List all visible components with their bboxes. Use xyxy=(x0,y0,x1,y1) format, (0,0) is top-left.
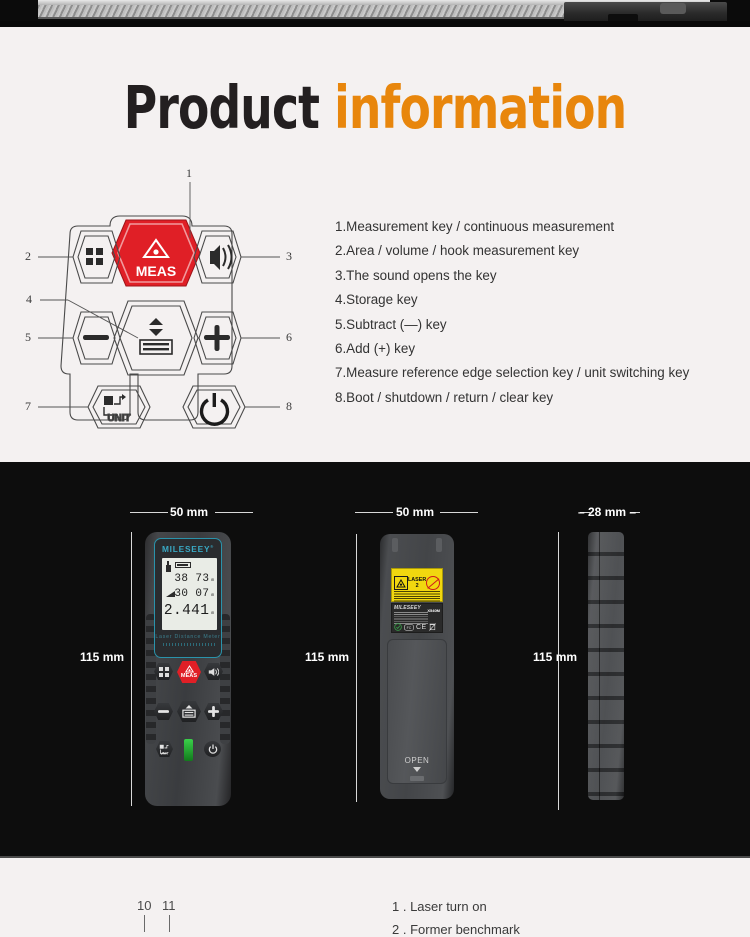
keypad-plus-key xyxy=(194,312,241,364)
reference-point-icon xyxy=(165,561,172,572)
minus-icon xyxy=(158,710,169,713)
device-unit-key[interactable]: UNIT xyxy=(156,741,173,757)
lcd-row-1: 38 73m xyxy=(174,573,214,585)
back-height-line xyxy=(356,534,357,802)
list-item: 3.The sound opens the key xyxy=(335,264,745,288)
feature-list: 1.Measurement key / continuous measureme… xyxy=(335,215,745,410)
angle-icon xyxy=(166,591,175,597)
laser-class-number: 2 xyxy=(408,583,426,589)
brand-text: MILESEEY xyxy=(162,544,210,554)
device-meas-label: MEAS xyxy=(181,673,197,679)
back-rail-left xyxy=(392,538,398,552)
label-fine-print xyxy=(394,591,440,602)
panel-subtitle: Laser Distance Meter xyxy=(155,634,221,640)
side-width-label: – 28 mm – xyxy=(578,505,636,519)
lcd-row-2: 30 07m xyxy=(174,588,214,600)
open-arrow-icon xyxy=(413,767,421,772)
keypad-sound-key xyxy=(194,231,241,283)
front-width-label: 50 mm xyxy=(170,505,208,519)
lcd-row-1-unit: m xyxy=(211,578,214,583)
svg-text:UNIT: UNIT xyxy=(160,751,169,754)
keypad-minus-key xyxy=(73,312,120,364)
keypad-power-key xyxy=(183,386,245,428)
device-side-view xyxy=(588,532,624,800)
device-power-key[interactable] xyxy=(204,741,221,757)
model-range: 40M xyxy=(432,608,440,613)
side-height-label: 115 mm xyxy=(533,650,577,664)
back-width-label: 50 mm xyxy=(396,505,434,519)
laser-warning-label: LASER 2 xyxy=(391,568,443,602)
back-rail-right xyxy=(436,538,442,552)
list-item: 2.Area / volume / hook measurement key xyxy=(335,239,745,263)
front-width-line-left xyxy=(130,512,168,513)
page-title-part1: Product xyxy=(124,73,319,142)
device-minus-key[interactable] xyxy=(154,703,173,720)
bottom-callout-10: 10 xyxy=(137,898,151,913)
lcd-display: 38 73m 30 07m 2.441m xyxy=(162,558,217,630)
side-seam xyxy=(599,532,600,800)
keypad-callout-1: 1 xyxy=(186,166,192,181)
keypad-meas-key: MEAS xyxy=(112,220,200,286)
back-width-line-left xyxy=(355,512,393,513)
device-front-view: MILESEEY® 38 73m 30 07m 2.441m Laser Dis… xyxy=(145,532,231,806)
device-sound-key[interactable] xyxy=(204,663,223,680)
laser-class-text: LASER 2 xyxy=(408,577,426,589)
bottom-line-1: 1 . Laser turn on xyxy=(392,899,487,914)
speaker-icon xyxy=(208,667,219,677)
keypad-storage-key xyxy=(114,301,198,375)
laser-warning-icon xyxy=(185,665,194,673)
page-title: Product information xyxy=(53,78,698,137)
keypad-callout-6: 6 xyxy=(286,330,292,345)
lcd-row-3-value: 2.441 xyxy=(164,603,210,619)
device-plus-key[interactable] xyxy=(204,703,223,720)
side-ridges xyxy=(588,532,624,800)
top-image-strip xyxy=(0,0,750,27)
lcd-row-2-value: 30 07 xyxy=(174,588,209,600)
back-width-line-right xyxy=(440,512,478,513)
keypad-callout-2: 2 xyxy=(25,249,31,264)
bottom-section: 10 11 1 . Laser turn on 2 . Former bench… xyxy=(0,860,750,932)
front-height-line xyxy=(131,532,132,806)
reference-unit-icon: UNIT xyxy=(159,744,170,755)
brand-tm: ® xyxy=(210,544,214,549)
keypad-callout-3: 3 xyxy=(286,249,292,264)
list-item: 4.Storage key xyxy=(335,288,745,312)
device-keypad: MEAS UNIT xyxy=(154,663,222,798)
led-indicator xyxy=(184,739,193,761)
no-stare-icon xyxy=(426,576,440,590)
front-panel: MILESEEY® 38 73m 30 07m 2.441m Laser Dis… xyxy=(154,538,222,658)
keypad-svg: MEAS xyxy=(18,160,318,450)
svg-text:FC: FC xyxy=(407,626,412,630)
bottom-tick-10 xyxy=(144,915,145,932)
keypad-callout-4: 4 xyxy=(26,292,32,307)
list-item: 5.Subtract (—) key xyxy=(335,313,745,337)
back-height-label: 115 mm xyxy=(305,650,349,664)
keypad-unit-key: UNIT xyxy=(88,386,150,428)
svg-text:UNIT: UNIT xyxy=(107,413,130,424)
recycle-icon xyxy=(394,623,402,631)
certification-marks: FC CE xyxy=(394,623,442,631)
keypad-callout-5: 5 xyxy=(25,330,31,345)
speaker-grille xyxy=(163,643,215,646)
battery-door-tab[interactable] xyxy=(410,776,424,781)
front-height-label: 115 mm xyxy=(80,650,124,664)
power-icon xyxy=(208,744,218,754)
dimension-section: 50 mm 115 mm MILESEEY® 38 73m 30 07m 2.4… xyxy=(0,462,750,858)
device-meas-key[interactable]: MEAS xyxy=(177,661,201,683)
lcd-row-3: 2.441m xyxy=(164,603,215,619)
lcd-row-2-unit: m xyxy=(211,593,214,598)
weee-bin-icon xyxy=(429,623,436,631)
lcd-row-1-value: 38 73 xyxy=(174,573,209,585)
device-back-view: LASER 2 MILESEEY X540M FC CE OPEN xyxy=(380,534,454,799)
keypad-area-key xyxy=(73,231,120,283)
list-item: 8.Boot / shutdown / return / clear key xyxy=(335,386,745,410)
keypad-diagram: MEAS xyxy=(18,160,318,450)
list-item: 7.Measure reference edge selection key /… xyxy=(335,361,745,385)
device-storage-key[interactable] xyxy=(177,701,201,722)
spec-label-model: X540M xyxy=(427,605,440,614)
keypad-callout-8: 8 xyxy=(286,399,292,414)
front-width-line-right xyxy=(215,512,253,513)
open-label: OPEN xyxy=(388,756,446,765)
list-item: 1.Measurement key / continuous measureme… xyxy=(335,215,745,239)
ce-mark: CE xyxy=(416,624,427,631)
grid-icon xyxy=(159,667,169,677)
label-symbols-row: LASER 2 xyxy=(393,575,441,591)
page-title-part2: information xyxy=(334,73,626,142)
storage-icon xyxy=(182,705,196,718)
brand-logo: MILESEEY® xyxy=(155,544,221,554)
spec-label-brand: MILESEEY xyxy=(394,605,421,611)
laser-triangle-icon xyxy=(394,576,408,590)
fcc-icon: FC xyxy=(404,624,414,631)
lcd-status-row xyxy=(165,560,195,573)
svg-text:MEAS: MEAS xyxy=(136,263,176,279)
label-header-strip xyxy=(393,570,441,574)
plus-icon xyxy=(208,706,219,717)
battery-icon xyxy=(175,562,191,568)
section-divider xyxy=(0,856,750,858)
device-area-key[interactable] xyxy=(154,663,173,680)
bottom-line-2: 2 . Former benchmark xyxy=(392,922,520,937)
strip-base xyxy=(0,21,750,27)
bottom-tick-11 xyxy=(169,915,170,932)
bottom-callout-11: 11 xyxy=(162,898,176,913)
keypad-callout-7: 7 xyxy=(25,399,31,414)
side-height-line xyxy=(558,532,559,810)
battery-door[interactable]: OPEN xyxy=(387,639,447,784)
lcd-row-3-unit: m xyxy=(211,611,214,616)
list-item: 6.Add (+) key xyxy=(335,337,745,361)
spec-label: MILESEEY X540M FC CE xyxy=(391,603,443,633)
